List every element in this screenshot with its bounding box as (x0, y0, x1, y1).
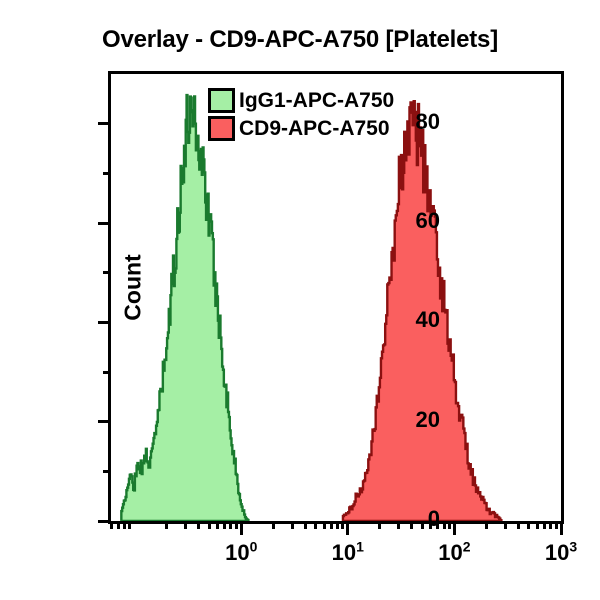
x-tick-minor (527, 521, 530, 529)
x-tick-label: 101 (303, 540, 393, 566)
plot-frame: Count 020406080 100101102103 IgG1-APC-A7… (108, 71, 564, 524)
x-tick-label: 100 (196, 540, 286, 566)
y-tick-major (98, 222, 111, 225)
y-tick-minor (103, 271, 111, 274)
legend-swatch-cd9 (208, 116, 235, 141)
y-tick-major (98, 321, 111, 324)
y-tick-major (98, 420, 111, 423)
x-tick-minor (517, 521, 520, 529)
x-tick-minor (410, 521, 413, 529)
x-tick-minor (208, 521, 211, 529)
x-tick-minor (323, 521, 326, 529)
histogram-svg (111, 74, 561, 521)
legend-swatch-igg1 (208, 88, 235, 113)
x-tick-minor (197, 521, 200, 529)
x-tick-minor (272, 521, 275, 529)
x-tick-label: 103 (516, 540, 600, 566)
plot-area (111, 74, 561, 521)
x-tick-minor (123, 521, 126, 529)
x-tick-minor (436, 521, 439, 529)
x-tick-minor (291, 521, 294, 529)
y-tick-major (98, 122, 111, 125)
flow-cytometry-histogram-page: Overlay - CD9-APC-A750 [Platelets] Count… (0, 0, 600, 600)
x-tick-minor (378, 521, 381, 529)
y-axis-label: Count (120, 208, 147, 368)
x-tick-minor (336, 521, 339, 529)
x-tick-minor (443, 521, 446, 529)
page-title: Overlay - CD9-APC-A750 [Platelets] (0, 26, 600, 54)
x-tick-minor (549, 521, 552, 529)
y-tick-label: 60 (380, 208, 440, 234)
x-tick-minor (504, 521, 507, 529)
x-tick-minor (536, 521, 539, 529)
x-tick-minor (117, 521, 120, 529)
x-tick-minor (341, 521, 344, 529)
y-tick-label: 20 (380, 407, 440, 433)
x-tick-minor (555, 521, 558, 529)
legend-item-igg1: IgG1-APC-A750 (208, 88, 394, 113)
x-tick-major (346, 521, 349, 535)
x-tick-label: 102 (409, 540, 499, 566)
y-tick-label: 40 (380, 307, 440, 333)
legend-label-igg1: IgG1-APC-A750 (239, 90, 394, 111)
x-tick-minor (485, 521, 488, 529)
legend-item-cd9: CD9-APC-A750 (208, 116, 394, 141)
x-tick-major (453, 521, 456, 535)
x-tick-minor (448, 521, 451, 529)
x-tick-minor (110, 521, 113, 529)
x-tick-minor (314, 521, 317, 529)
y-tick-minor (103, 371, 111, 374)
y-tick-minor (103, 470, 111, 473)
x-tick-minor (304, 521, 307, 529)
x-tick-minor (184, 521, 187, 529)
legend: IgG1-APC-A750 CD9-APC-A750 (208, 88, 394, 141)
legend-label-cd9: CD9-APC-A750 (239, 118, 390, 139)
x-tick-minor (165, 521, 168, 529)
x-tick-minor (128, 521, 131, 529)
x-tick-minor (235, 521, 238, 529)
x-tick-minor (421, 521, 424, 529)
x-tick-major (560, 521, 563, 535)
x-tick-minor (543, 521, 546, 529)
x-tick-minor (397, 521, 400, 529)
x-tick-minor (330, 521, 333, 529)
x-tick-major (240, 521, 243, 535)
x-tick-minor (429, 521, 432, 529)
x-tick-minor (216, 521, 219, 529)
y-tick-minor (103, 172, 111, 175)
x-tick-minor (223, 521, 226, 529)
x-tick-minor (229, 521, 232, 529)
